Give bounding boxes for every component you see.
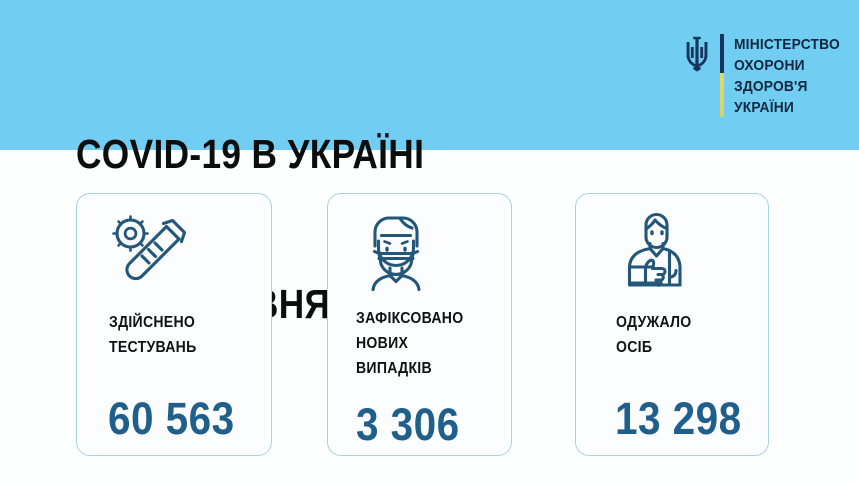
stat-card-label-line-1: ОДУЖАЛО bbox=[616, 310, 691, 335]
test-tube-virus-icon bbox=[109, 212, 189, 297]
stat-card-new-cases: ЗАФІКСОВАНО НОВИХ ВИПАДКІВ 3 306 bbox=[327, 193, 512, 456]
stat-card-label: ЗАФІКСОВАНО НОВИХ ВИПАДКІВ bbox=[356, 306, 463, 381]
header-band: COVID-19 В УКРАЇНІ ЗА 27 ТРАВНЯ bbox=[0, 0, 859, 150]
stat-card-label-line-3: ВИПАДКІВ bbox=[356, 356, 463, 381]
ministry-logo: МІНІСТЕРСТВО ОХОРОНИ ЗДОРОВ'Я УКРАЇНИ bbox=[684, 34, 849, 118]
stat-card-value: 60 563 bbox=[108, 396, 235, 441]
stat-card-label-line-1: ЗДІЙСНЕНО bbox=[109, 310, 196, 335]
ministry-name-line-1: МІНІСТЕРСТВО bbox=[734, 34, 840, 55]
ukraine-trident-icon bbox=[684, 36, 710, 72]
stat-card-recovered: ОДУЖАЛО ОСІБ 13 298 bbox=[575, 193, 769, 456]
stat-card-label-line-2: ОСІБ bbox=[616, 335, 691, 360]
stat-card-label-line-1: ЗАФІКСОВАНО bbox=[356, 306, 463, 331]
stat-card-label: ЗДІЙСНЕНО ТЕСТУВАНЬ bbox=[109, 310, 196, 360]
infographic-page: COVID-19 В УКРАЇНІ ЗА 27 ТРАВНЯ bbox=[0, 0, 859, 484]
stat-card-tests: ЗДІЙСНЕНО ТЕСТУВАНЬ 60 563 bbox=[76, 193, 272, 456]
person-face-mask-icon bbox=[354, 212, 438, 297]
stat-card-value: 3 306 bbox=[356, 402, 460, 447]
ministry-name-line-4: УКРАЇНИ bbox=[734, 97, 840, 118]
ministry-name-line-3: ЗДОРОВ'Я bbox=[734, 76, 840, 97]
stat-card-label-line-2: НОВИХ bbox=[356, 331, 463, 356]
stat-card-label: ОДУЖАЛО ОСІБ bbox=[616, 310, 691, 360]
logo-divider-bar bbox=[720, 34, 724, 117]
stat-cards-row: ЗДІЙСНЕНО ТЕСТУВАНЬ 60 563 bbox=[0, 150, 859, 484]
stat-card-label-line-2: ТЕСТУВАНЬ bbox=[109, 335, 196, 360]
ministry-name-line-2: ОХОРОНИ bbox=[734, 55, 840, 76]
person-thumbs-up-recovered-icon bbox=[614, 212, 694, 297]
ministry-name: МІНІСТЕРСТВО ОХОРОНИ ЗДОРОВ'Я УКРАЇНИ bbox=[734, 34, 840, 118]
stat-card-value: 13 298 bbox=[615, 396, 742, 441]
